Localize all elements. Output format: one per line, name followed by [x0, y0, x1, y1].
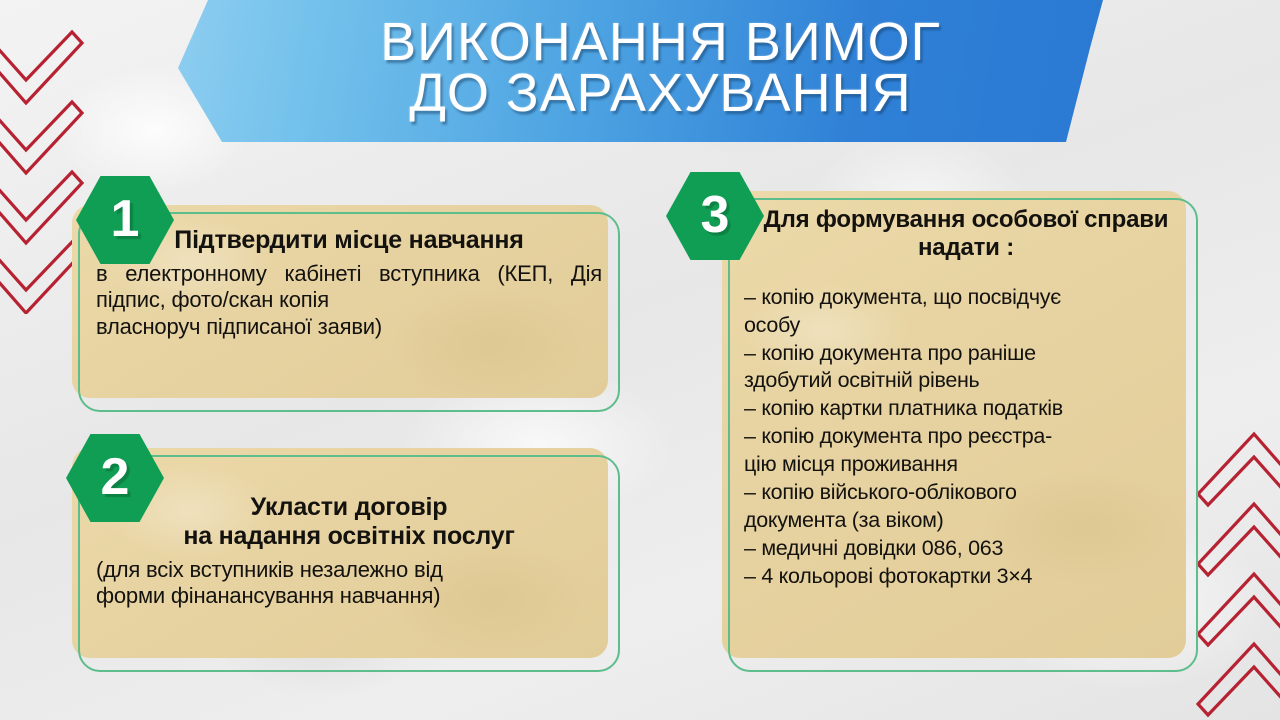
decorative-chevrons-right: [1186, 431, 1280, 720]
list-item: особу: [744, 312, 1188, 340]
list-item: – копію війського-облікового: [744, 479, 1188, 507]
step-card-1-heading: Підтвердити місце навчання: [96, 226, 602, 255]
list-item: – копію документа, що посвідчує: [744, 284, 1188, 312]
step-card-1-line-1: в електронному кабінеті вступника: [96, 261, 480, 286]
list-item: – копію картки платника податків: [744, 395, 1188, 423]
list-item: – копію документа про реєстра-: [744, 423, 1188, 451]
step-badge-2-number: 2: [101, 451, 130, 503]
step-card-2-text: (для всіх вступників незалежно від форми…: [96, 557, 602, 610]
step-card-3: Для формування особової справи надати : …: [728, 198, 1198, 672]
step-card-1-line-3: власноруч підписаної заяви): [96, 314, 602, 340]
list-item: – копію документа про раніше: [744, 340, 1188, 368]
title-banner: ВИКОНАННЯ ВИМОГ ДО ЗАРАХУВАННЯ: [178, 0, 1103, 142]
step-card-2-line-1: (для всіх вступників незалежно від: [96, 557, 443, 582]
list-item: – медичні довідки 086, 063: [744, 535, 1188, 563]
step-card-1-text: в електронному кабінеті вступника (КЕП, …: [96, 261, 602, 340]
page-title: ВИКОНАННЯ ВИМОГ ДО ЗАРАХУВАННЯ: [300, 15, 981, 127]
step-badge-1-number: 1: [111, 193, 140, 245]
step-badge-3-number: 3: [701, 189, 730, 241]
step-card-3-document-list: – копію документа, що посвідчує особу – …: [744, 284, 1188, 591]
step-card-3-body: Для формування особової справи надати : …: [728, 198, 1198, 599]
list-item: документа (за віком): [744, 507, 1188, 535]
step-card-2-heading: Укласти договір на надання освітніх посл…: [96, 469, 602, 551]
step-card-2-line-2: форми фінанансування навчання): [96, 583, 602, 609]
page-title-line-2: ДО ЗАРАХУВАННЯ: [380, 66, 941, 121]
list-item: – 4 кольорові фотокартки 3×4: [744, 563, 1188, 591]
step-card-3-heading: Для формування особової справи надати :: [744, 206, 1188, 262]
list-item: цію місця проживання: [744, 451, 1188, 479]
step-card-2: Укласти договір на надання освітніх посл…: [78, 455, 620, 672]
page-title-line-1: ВИКОНАННЯ ВИМОГ: [380, 15, 941, 70]
list-item: здобутий освітній рівень: [744, 367, 1188, 395]
